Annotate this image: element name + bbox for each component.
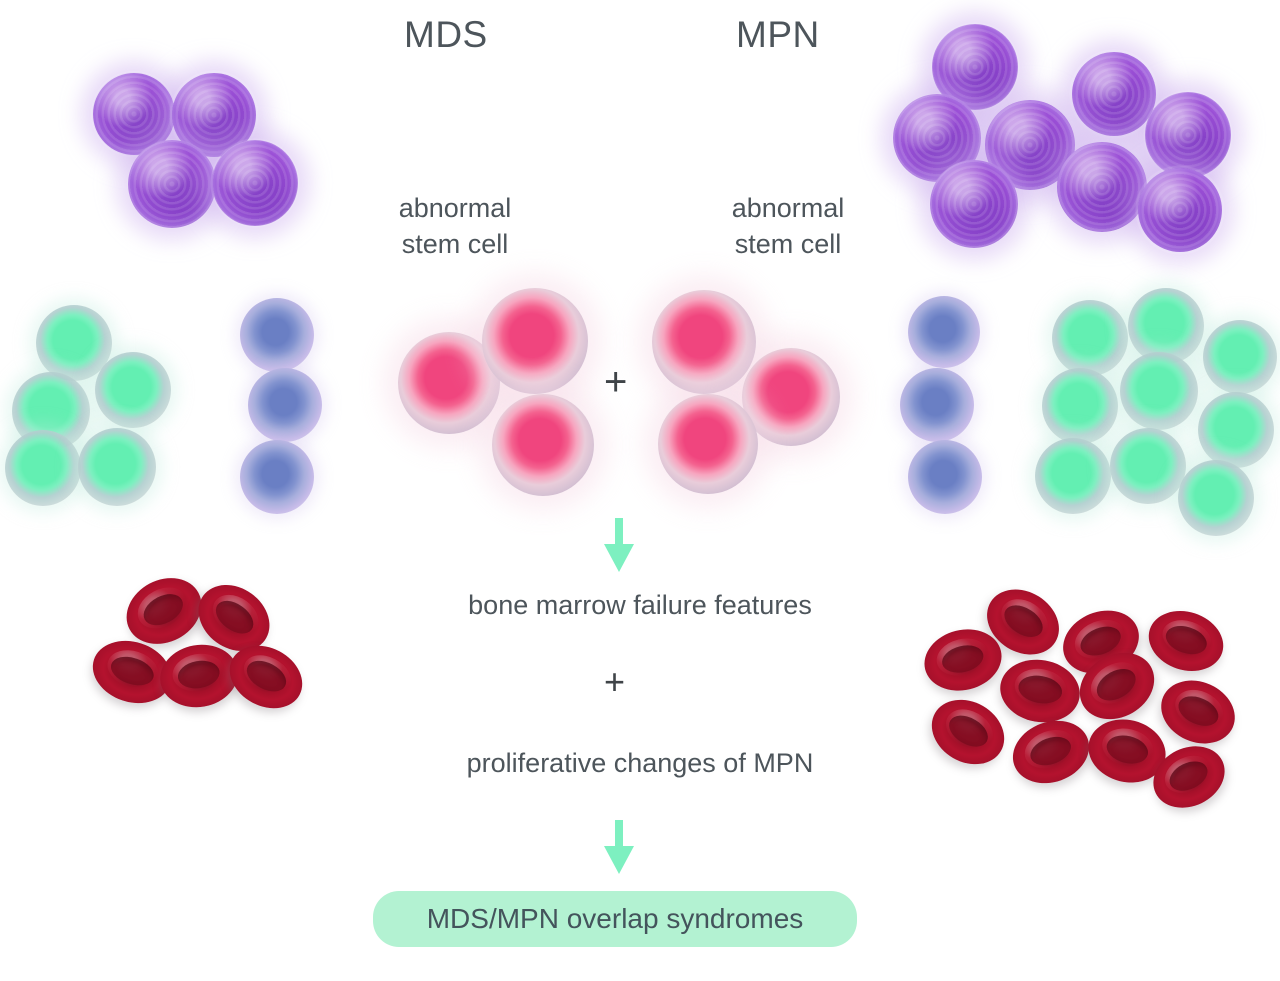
granulocytes-1 — [1052, 300, 1128, 376]
label-line-1: abnormal — [708, 190, 868, 226]
blast-cells-3 — [128, 140, 216, 228]
lymphocytes-2 — [248, 368, 322, 442]
granulocytes-5 — [1120, 352, 1198, 430]
granulocytes-9 — [1178, 460, 1254, 536]
abnormal-stem-cells-2 — [482, 288, 588, 394]
red-blood-cells-7 — [1151, 669, 1245, 755]
granulocytes-3 — [95, 352, 171, 428]
text-proliferative-changes: proliferative changes of MPN — [0, 748, 1280, 779]
result-banner: MDS/MPN overlap syndromes — [373, 891, 857, 947]
lymphocytes-1 — [908, 296, 980, 368]
arrow-down-icon-2 — [596, 820, 642, 879]
granulocytes-7 — [1035, 438, 1111, 514]
arrow-down-icon-1 — [596, 518, 642, 577]
granulocytes-3 — [1203, 320, 1277, 394]
granulocytes-4 — [5, 430, 81, 506]
abnormal-stem-cells-1 — [652, 290, 756, 394]
lymphocytes-1 — [240, 298, 314, 372]
lymphocytes-3 — [908, 440, 982, 514]
header-mpn: MPN — [736, 14, 820, 56]
blast-cells-8 — [1138, 168, 1222, 252]
label-line-2: stem cell — [708, 226, 868, 262]
result-banner-label: MDS/MPN overlap syndromes — [427, 903, 804, 935]
label-abnormal-stem-cell-mds: abnormal stem cell — [375, 190, 535, 262]
blast-cells-4 — [212, 140, 298, 226]
lymphocytes-2 — [900, 368, 974, 442]
abnormal-stem-cells-2 — [742, 348, 840, 446]
text-bone-marrow-failure: bone marrow failure features — [0, 590, 1280, 621]
granulocytes-8 — [1110, 428, 1186, 504]
blast-cells-6 — [930, 160, 1018, 248]
granulocytes-4 — [1042, 368, 1118, 444]
abnormal-stem-cells-3 — [492, 394, 594, 496]
label-line-1: abnormal — [375, 190, 535, 226]
diagram-canvas: MDS MPN abnormal stem cell abnormal stem… — [0, 0, 1280, 981]
label-line-2: stem cell — [375, 226, 535, 262]
lymphocytes-3 — [240, 440, 314, 514]
header-mds: MDS — [404, 14, 488, 56]
granulocytes-5 — [78, 428, 156, 506]
blast-cells-7 — [1057, 142, 1147, 232]
plus-operator-features: + — [604, 664, 625, 700]
label-abnormal-stem-cell-mpn: abnormal stem cell — [708, 190, 868, 262]
granulocytes-6 — [1198, 392, 1274, 468]
plus-operator-stemcells: + — [604, 362, 627, 402]
abnormal-stem-cells-3 — [658, 394, 758, 494]
